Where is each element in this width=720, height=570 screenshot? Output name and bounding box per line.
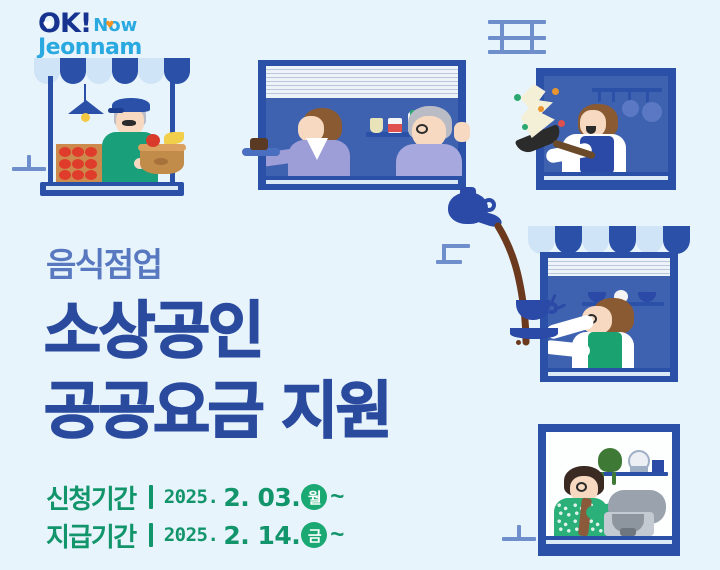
divider [149,485,153,509]
barista-apron [588,332,622,368]
awning [528,226,690,254]
coffee-saucer [510,328,558,339]
application-monthday: 2. 03. [223,483,300,512]
shelf-box-1 [652,460,664,472]
stall-post-left [48,76,53,184]
food-bit-1 [514,94,521,101]
logo-top-row: OK! ♥ Now ♥ [38,10,168,36]
roaster-knob [620,528,636,536]
frying-pan-group [508,80,606,170]
headline-line-1: 소상공인 [44,300,262,362]
coffee-cup-handle [546,302,558,314]
divider [149,523,153,547]
brand-logo: OK! ♥ Now ♥ Jeonnam [38,10,168,60]
window-sill-inner [546,540,672,544]
rack-hook-2 [612,90,615,102]
shelf-cup-3 [638,292,656,302]
poster-canvas: OK! ♥ Now ♥ Jeonnam [0,0,720,570]
scale-base [630,466,648,472]
cup-paper [370,118,383,133]
logo-now-label: Now [93,15,137,36]
payment-period-label: 지급기간 [46,517,136,554]
application-period-row: 신청기간 2025. 2. 03. 월 ~ [46,478,344,516]
pan-handle [552,139,596,159]
food-bit-3 [558,120,565,127]
customer-waving-hand [454,122,470,142]
heart-accent-icon: ♥ [105,21,114,31]
vendor-cap-brim [108,108,124,113]
mark-pyo-top [488,20,548,56]
plate-dessert [250,138,268,150]
food-bit-5 [538,106,544,112]
window-sill-inner [544,176,668,180]
lamp-shade [68,100,104,114]
date-block: 신청기간 2025. 2. 03. 월 ~ 지급기간 2025. 2. 14. … [46,478,344,554]
headline-line-2: 공공요금 지원 [44,380,390,442]
application-year: 2025. [164,486,219,508]
basket-bow [154,158,168,165]
coffee-cup [516,300,550,320]
cup-sparkle-2 [557,303,566,310]
tomato-row [59,147,99,181]
owner-glasses [576,482,587,492]
awning [34,58,190,84]
logo-exclaim: ! [80,8,91,39]
logo-ok-text: OK! ♥ [38,12,91,36]
food-bit-2 [552,88,559,95]
hanging-pot-1 [622,100,639,117]
stall-counter-inner [46,186,178,190]
interior-shelf [594,472,668,476]
heart-icon: ♥ [43,21,53,30]
logo-region-label: Jeonnam [38,37,168,59]
payment-weekday-badge: 금 [301,522,327,548]
window-sill-inner [266,180,458,184]
application-weekday-badge: 월 [301,484,327,510]
mark-o-bottom [502,525,536,547]
payment-monthday: 2. 14. [223,521,300,550]
application-period-label: 신청기간 [46,479,136,516]
rolled-shutter [548,258,670,276]
plant-vine-2 [612,472,616,485]
logo-now-text: Now ♥ [93,15,137,36]
lamp-cord [84,84,86,102]
lamp-bulb [81,113,90,122]
scene-roastery-window [538,424,680,556]
payment-year: 2025. [164,524,219,546]
rolled-shutter [266,66,458,98]
hanging-plant [598,448,622,472]
payment-period-row: 지급기간 2025. 2. 14. 금 ~ [46,516,344,554]
window-sill-inner [548,372,670,376]
eyebrow-text: 음식점업 [46,238,161,286]
coffee-cup-group [508,298,578,358]
cup-red-band [388,124,402,132]
scene-restaurant-window [258,60,466,190]
application-tilde: ~ [330,483,344,511]
customer-glasses [416,124,428,134]
scene-fruit-stall [34,58,190,196]
basket-banana [164,132,184,144]
window-interior [546,432,672,536]
food-bit-4 [522,124,528,130]
basket-apple [146,134,160,147]
hanging-pot-2 [642,102,662,122]
payment-tilde: ~ [330,521,344,549]
fruit-basket-rim [138,144,186,151]
rack-hook-4 [646,90,649,102]
vendor-moustache [122,120,136,126]
